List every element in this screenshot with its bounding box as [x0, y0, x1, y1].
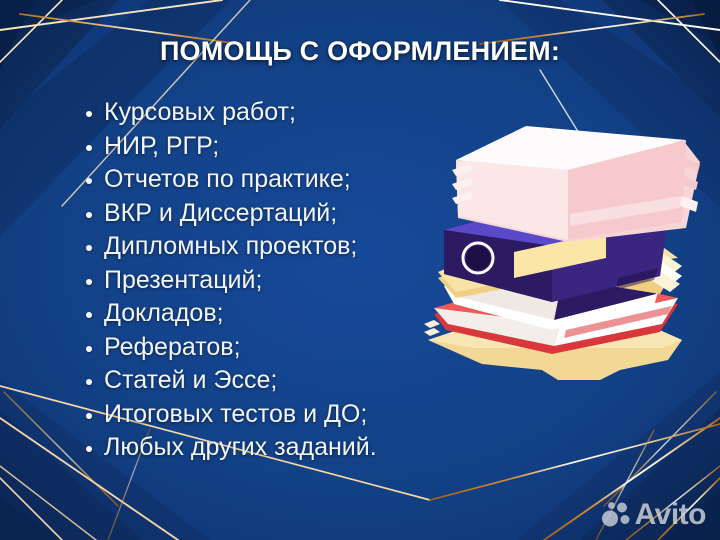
paper-stack-icon [452, 126, 700, 242]
list-item: Любых других заданий. [84, 431, 504, 465]
promo-banner: ПОМОЩЬ С ОФОРМЛЕНИЕМ: Курсовых работ; НИ… [0, 0, 720, 540]
stack-of-books-illustration [410, 118, 700, 408]
avito-wordmark: Avito [635, 500, 706, 530]
banner-title: ПОМОЩЬ С ОФОРМЛЕНИЕМ: [0, 36, 720, 67]
avito-watermark: Avito [601, 500, 706, 530]
avito-dots-icon [601, 501, 631, 529]
